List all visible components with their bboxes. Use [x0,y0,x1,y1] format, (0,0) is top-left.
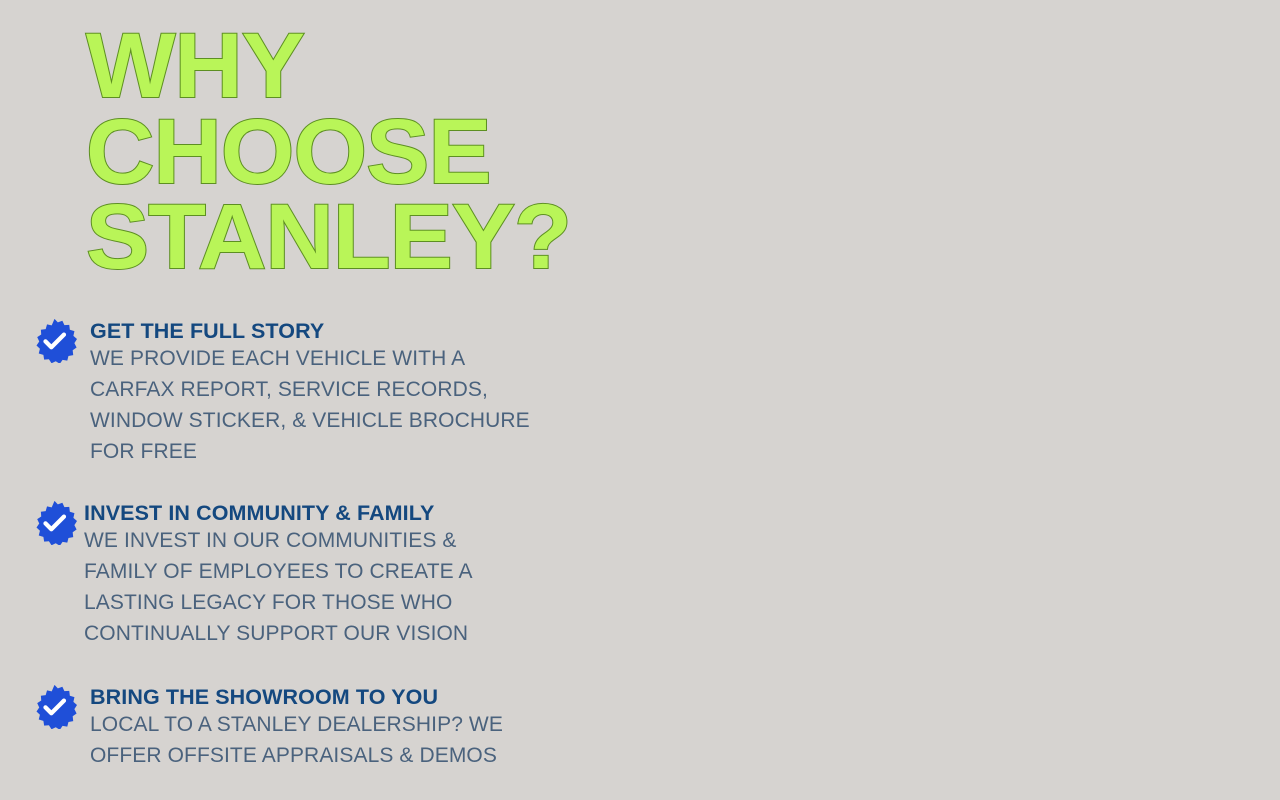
feature-title: INVEST IN COMMUNITY & FAMILY [84,500,612,526]
feature-bring-the-showroom-to-you[interactable]: BRING THE SHOWROOM TO YOU LOCAL TO A STA… [32,684,612,772]
feature-title: GET THE FULL STORY [90,318,612,344]
check-badge-icon [32,318,77,363]
page-title: WHY CHOOSE STANLEY? [86,24,622,281]
feature-description: LOCAL TO A STANLEY DEALERSHIP? WE OFFER … [90,710,612,772]
feature-text-block: GET THE FULL STORY WE PROVIDE EACH VEHIC… [90,318,612,468]
feature-invest-in-community-and-family[interactable]: INVEST IN COMMUNITY & FAMILY WE INVEST I… [32,500,612,650]
feature-text-block: INVEST IN COMMUNITY & FAMILY WE INVEST I… [84,500,612,650]
check-badge-icon [32,500,77,545]
feature-description: WE PROVIDE EACH VEHICLE WITH A CARFAX RE… [90,344,612,467]
check-badge-icon [32,684,77,729]
feature-description: WE INVEST IN OUR COMMUNITIES & FAMILY OF… [84,526,612,649]
feature-text-block: BRING THE SHOWROOM TO YOU LOCAL TO A STA… [90,684,612,772]
feature-get-the-full-story[interactable]: GET THE FULL STORY WE PROVIDE EACH VEHIC… [32,318,612,468]
poster-canvas: WHY CHOOSE STANLEY? GET THE FULL STORY W… [0,0,1280,800]
feature-title: BRING THE SHOWROOM TO YOU [90,684,612,710]
